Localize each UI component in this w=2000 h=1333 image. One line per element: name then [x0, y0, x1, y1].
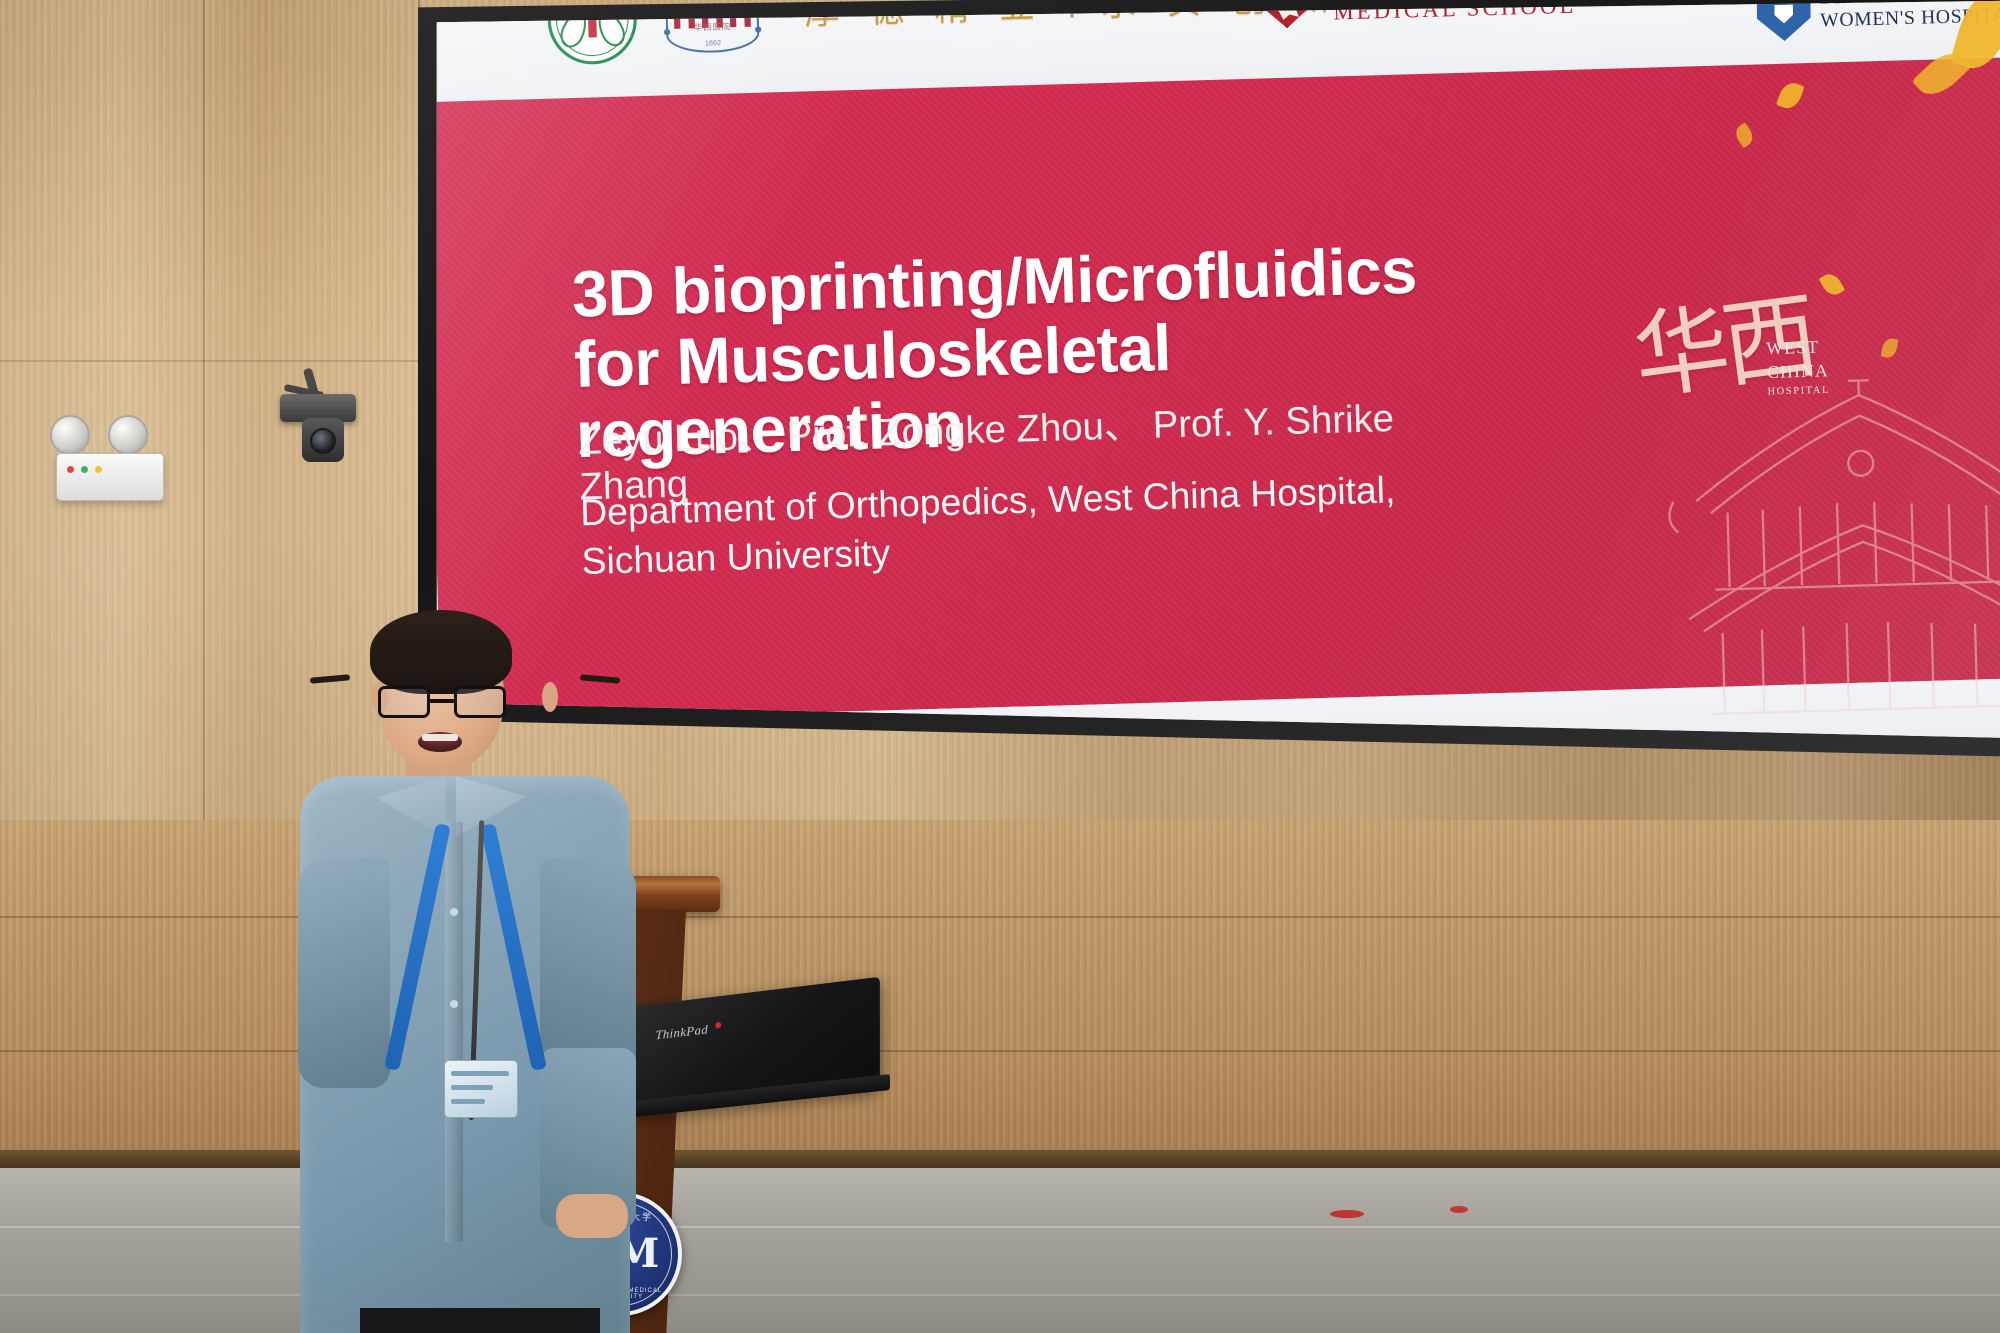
presenter-eyebrow-left: [310, 674, 350, 683]
laptop[interactable]: ThinkPad: [630, 992, 902, 1112]
presentation-screen: 华西医院 1892 厚 德 精 业 求 实 创 新 VE RI: [418, 0, 2000, 806]
floor-marker-red-2: [1450, 1206, 1468, 1213]
thinkpad-red-dot-icon: [715, 1022, 721, 1029]
presenter: [300, 608, 630, 1333]
emergency-light: [48, 405, 168, 515]
floor-marker-red: [1330, 1210, 1364, 1218]
glasses-bridge: [430, 699, 456, 703]
bwh-shield-icon: BWH: [1756, 0, 1811, 42]
glasses-icon: [376, 686, 508, 720]
shirt-sleeve-left: [298, 858, 390, 1088]
shirt-placket: [445, 822, 463, 1242]
security-camera-icon: [280, 368, 360, 473]
screen-surface: 华西医院 1892 厚 德 精 业 求 实 创 新 VE RI: [432, 0, 2000, 792]
slide-content: 3D bioprinting/Microfluidics for Musculo…: [432, 56, 2000, 723]
slide: 华西医院 1892 厚 德 精 业 求 实 创 新 VE RI: [432, 0, 2000, 792]
presenter-hand-right: [556, 1194, 628, 1238]
presenter-eyebrow-right: [580, 674, 620, 683]
gate-year: 1892: [662, 39, 764, 49]
autumn-leaf-2: [1732, 122, 1756, 148]
conference-badge: [444, 1060, 518, 1118]
glasses-lens-right: [454, 686, 506, 718]
wc-en-line-1: WEST: [1766, 336, 1829, 361]
presenter-mouth: [418, 732, 462, 752]
presenter-ear-right: [542, 682, 558, 712]
presenter-hair: [370, 610, 512, 694]
thinkpad-logo: ThinkPad: [655, 1021, 708, 1043]
presenter-trousers: [360, 1308, 600, 1333]
autumn-leaf-4: [1881, 337, 1899, 359]
shirt-button-1: [450, 908, 458, 916]
presentation-photo: 华西医院 1892 厚 德 精 业 求 实 创 新 VE RI: [0, 0, 2000, 1333]
autumn-leaf-1: [1776, 79, 1805, 111]
bwh-inner-shield-icon: [1774, 4, 1793, 23]
shirt-button-2: [450, 1000, 458, 1008]
pavilion-line-art: [1651, 366, 2000, 720]
glasses-lens-left: [378, 686, 430, 718]
